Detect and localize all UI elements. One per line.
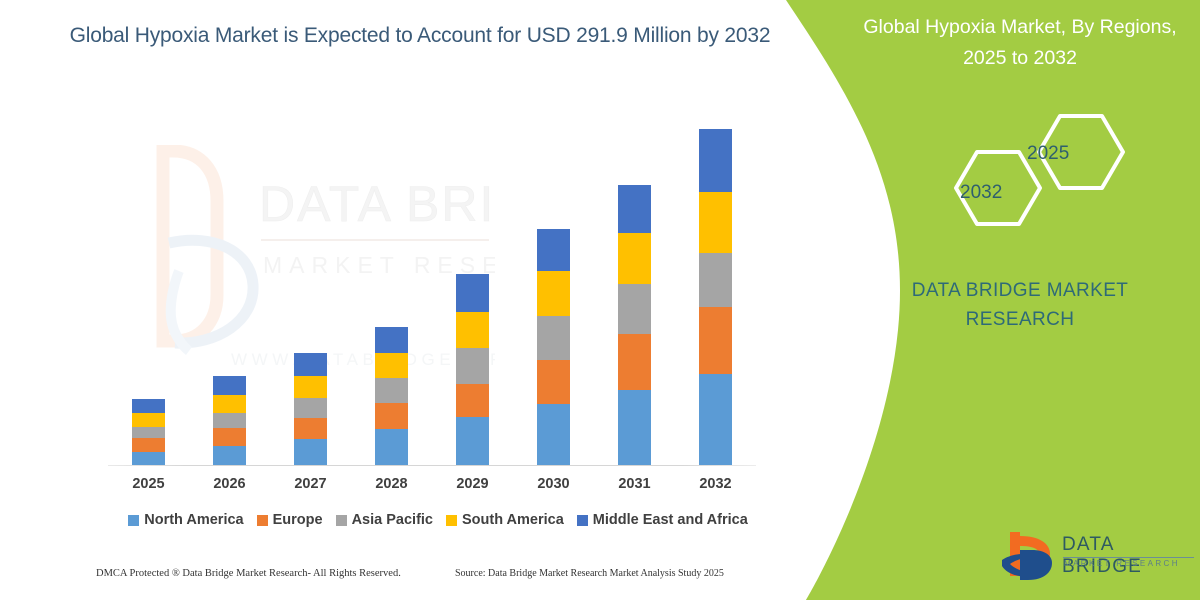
bar-segment bbox=[375, 353, 408, 378]
bar-segment bbox=[699, 253, 732, 307]
bar-2025 bbox=[132, 399, 165, 465]
bar-segment bbox=[699, 307, 732, 374]
legend-label: Asia Pacific bbox=[352, 512, 433, 528]
footer: DMCA Protected ® Data Bridge Market Rese… bbox=[0, 568, 820, 592]
legend-item[interactable]: Asia Pacific bbox=[336, 512, 433, 528]
bar-segment bbox=[132, 452, 165, 465]
legend-swatch-icon bbox=[336, 515, 347, 526]
chart-panel: Global Hypoxia Market is Expected to Acc… bbox=[0, 0, 830, 600]
bar-segment bbox=[375, 429, 408, 465]
bar-segment bbox=[375, 327, 408, 354]
bar-segment bbox=[213, 413, 246, 429]
bar-segment bbox=[699, 192, 732, 252]
legend-swatch-icon bbox=[577, 515, 588, 526]
bar-segment bbox=[537, 316, 570, 360]
legend-item[interactable]: North America bbox=[128, 512, 243, 528]
logo-divider bbox=[1063, 557, 1194, 558]
x-axis-label: 2032 bbox=[686, 476, 746, 492]
hexagon-2025-label: 2025 bbox=[1027, 143, 1069, 165]
bar-segment bbox=[294, 398, 327, 418]
data-bridge-logo: DATA BRIDGE MARKET RESEARCH bbox=[1000, 530, 1200, 586]
bar-segment bbox=[456, 348, 489, 384]
legend-item[interactable]: Europe bbox=[257, 512, 323, 528]
x-axis-labels: 20252026202720282029203020312032 bbox=[108, 476, 756, 502]
logo-text-sub: MARKET RESEARCH bbox=[1064, 559, 1180, 568]
x-axis-label: 2026 bbox=[200, 476, 260, 492]
green-panel-content: Global Hypoxia Market, By Regions, 2025 … bbox=[860, 0, 1200, 600]
bar-segment bbox=[618, 390, 651, 465]
bar-segment bbox=[132, 399, 165, 413]
bar-segment bbox=[213, 376, 246, 395]
x-axis-line bbox=[108, 465, 756, 466]
bar-segment bbox=[132, 413, 165, 427]
x-axis-label: 2030 bbox=[524, 476, 584, 492]
bar-segment bbox=[456, 274, 489, 312]
bar-2030 bbox=[537, 229, 570, 465]
x-axis-label: 2027 bbox=[281, 476, 341, 492]
bar-segment bbox=[456, 312, 489, 349]
bar-segment bbox=[294, 376, 327, 398]
legend-swatch-icon bbox=[257, 515, 268, 526]
x-axis-label: 2025 bbox=[119, 476, 179, 492]
logo-text-main: DATA BRIDGE bbox=[1062, 534, 1200, 578]
legend-swatch-icon bbox=[128, 515, 139, 526]
bar-segment bbox=[294, 353, 327, 376]
stacked-bar-chart bbox=[108, 140, 756, 466]
x-axis-label: 2029 bbox=[443, 476, 503, 492]
bar-segment bbox=[618, 233, 651, 284]
bar-segment bbox=[537, 360, 570, 403]
bar-segment bbox=[699, 129, 732, 192]
legend-label: Europe bbox=[273, 512, 323, 528]
bar-segment bbox=[213, 428, 246, 446]
bar-segment bbox=[213, 446, 246, 465]
bar-2029 bbox=[456, 274, 489, 465]
bar-segment bbox=[375, 378, 408, 403]
bar-segment bbox=[132, 427, 165, 439]
bar-2028 bbox=[375, 327, 408, 465]
hexagon-2032-label: 2032 bbox=[960, 182, 1002, 204]
bar-segment bbox=[618, 334, 651, 390]
bar-segment bbox=[618, 284, 651, 333]
bar-segment bbox=[213, 395, 246, 413]
bar-segment bbox=[456, 417, 489, 465]
footer-copyright: DMCA Protected ® Data Bridge Market Rese… bbox=[96, 568, 401, 579]
bar-segment bbox=[537, 404, 570, 465]
bar-2032 bbox=[699, 129, 732, 465]
hexagon-group bbox=[920, 110, 1150, 240]
legend-item[interactable]: Middle East and Africa bbox=[577, 512, 748, 528]
bar-2026 bbox=[213, 376, 246, 465]
bar-segment bbox=[699, 374, 732, 465]
x-axis-label: 2028 bbox=[362, 476, 422, 492]
x-axis-label: 2031 bbox=[605, 476, 665, 492]
bar-segment bbox=[132, 438, 165, 452]
bar-segment bbox=[294, 418, 327, 440]
bar-segment bbox=[537, 229, 570, 271]
legend-label: Middle East and Africa bbox=[593, 512, 748, 528]
footer-source: Source: Data Bridge Market Research Mark… bbox=[455, 568, 724, 579]
page-title: Global Hypoxia Market is Expected to Acc… bbox=[60, 20, 780, 51]
legend-label: North America bbox=[144, 512, 243, 528]
legend-swatch-icon bbox=[446, 515, 457, 526]
bar-segment bbox=[294, 439, 327, 465]
chart-legend: North AmericaEuropeAsia PacificSouth Ame… bbox=[108, 512, 768, 528]
bar-2027 bbox=[294, 353, 327, 465]
infographic-canvas: Global Hypoxia Market is Expected to Acc… bbox=[0, 0, 1200, 600]
green-panel-title: Global Hypoxia Market, By Regions, 2025 … bbox=[860, 12, 1180, 74]
logo-mark-icon bbox=[1000, 530, 1060, 582]
green-panel-brand: DATA BRIDGE MARKET RESEARCH bbox=[860, 276, 1180, 334]
bar-segment bbox=[618, 185, 651, 232]
bar-segment bbox=[375, 403, 408, 430]
bar-2031 bbox=[618, 185, 651, 465]
legend-label: South America bbox=[462, 512, 564, 528]
legend-item[interactable]: South America bbox=[446, 512, 564, 528]
bar-segment bbox=[537, 271, 570, 315]
bar-segment bbox=[456, 384, 489, 417]
